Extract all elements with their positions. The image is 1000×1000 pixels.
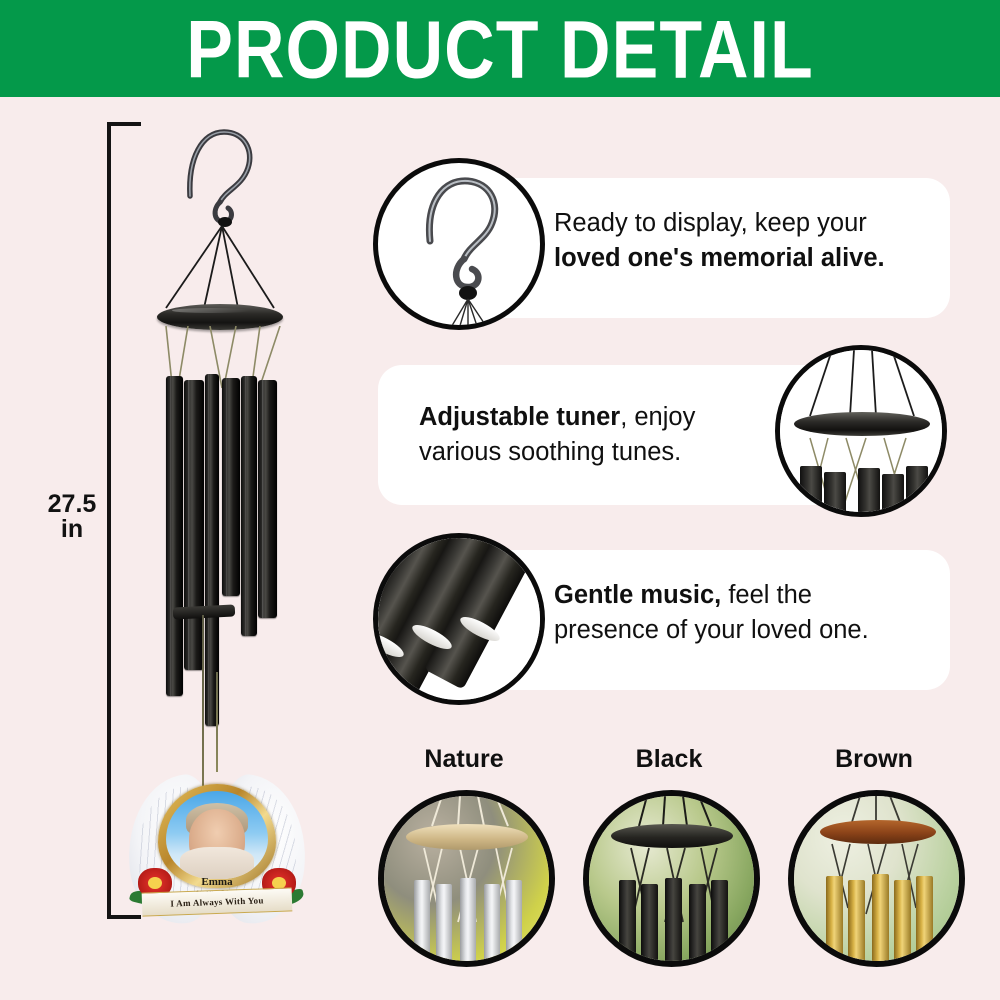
brown-disc: [820, 820, 936, 844]
tuner-tube: [906, 466, 928, 517]
nature-tube: [460, 878, 476, 962]
memorial-ornament: Emma 1946 - 2025 I Am Always With You: [128, 768, 306, 928]
ornament-name: Emma: [128, 876, 306, 888]
variant-label-nature: Nature: [378, 745, 550, 774]
ornament-hanging-cord: [216, 672, 218, 772]
ornament-banner-text: I Am Always With You: [170, 895, 264, 908]
tuner-tube: [800, 466, 822, 517]
nature-variant-photo[interactable]: [378, 790, 555, 967]
dimension-unit: in: [42, 517, 102, 542]
wind-striker: [173, 604, 236, 619]
brown-tube: [916, 876, 933, 962]
striker-cord: [202, 615, 204, 793]
ornament-photo: [166, 791, 268, 879]
black-tube: [711, 880, 728, 962]
feature-text-adjustable-tuner: Adjustable tuner, enjoy various soothing…: [419, 400, 819, 470]
suspension-strings: [128, 214, 318, 314]
tuner-tube: [858, 468, 880, 517]
feature1-line1: Ready to display, keep your: [554, 209, 867, 237]
black-disc: [611, 824, 733, 848]
brown-tube: [894, 880, 911, 962]
chime-tube: [241, 376, 257, 636]
dimension-label: 27.5 in: [42, 492, 102, 542]
black-tube: [689, 884, 706, 962]
photo-body: [180, 847, 254, 879]
chime-tube: [222, 378, 240, 596]
variant-label-brown: Brown: [788, 745, 960, 774]
feature3-regular: feel the: [721, 581, 812, 609]
page-title: PRODUCT DETAIL: [186, 8, 814, 90]
dimension-value: 27.5: [48, 490, 97, 518]
header-banner: PRODUCT DETAIL: [0, 0, 1000, 97]
tuner-tube: [882, 474, 904, 517]
s-hook-icon: [168, 118, 278, 228]
brown-tube: [826, 876, 843, 962]
chime-tube: [184, 380, 204, 670]
feature2-regular: , enjoy: [620, 403, 695, 431]
product-detail-infographic: PRODUCT DETAIL 27.5 in: [0, 0, 1000, 1000]
brown-tube: [872, 874, 889, 962]
nature-tube: [484, 884, 500, 962]
feature-text-ready-to-display: Ready to display, keep your loved one's …: [554, 206, 944, 276]
tuner-tube: [824, 472, 846, 517]
tubes-closeup-photo: [373, 533, 545, 705]
black-variant-photo[interactable]: [583, 790, 760, 967]
feature1-line2: loved one's memorial alive.: [554, 244, 885, 272]
feature-text-gentle-music: Gentle music, feel the presence of your …: [554, 578, 954, 648]
bracket-vertical-line: [107, 122, 111, 919]
hook-photo-illustration: [400, 169, 530, 329]
feature2-bold: Adjustable tuner: [419, 403, 620, 431]
nature-disc: [406, 824, 528, 850]
variant-label-black: Black: [583, 745, 755, 774]
chime-tube: [166, 376, 183, 696]
feature3-bold: Gentle music,: [554, 581, 721, 609]
hook-closeup-photo: [373, 158, 545, 330]
black-tube: [619, 880, 636, 962]
chime-tube: [258, 380, 277, 618]
brown-tube: [848, 880, 865, 962]
feature3-line2: presence of your loved one.: [554, 616, 869, 644]
brown-variant-photo[interactable]: [788, 790, 965, 967]
nature-tube: [506, 880, 522, 962]
feature2-line2: various soothing tunes.: [419, 438, 681, 466]
nature-tube: [436, 884, 452, 962]
black-tube: [665, 878, 682, 962]
nature-tube: [414, 880, 430, 962]
black-tube: [641, 884, 658, 962]
